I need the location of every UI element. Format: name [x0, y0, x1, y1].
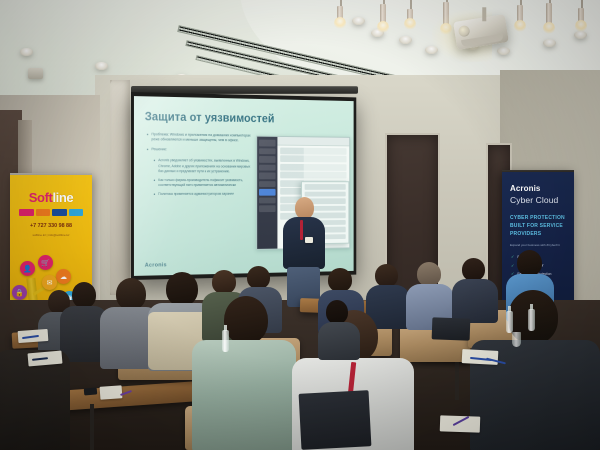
slide-footer-logo: Acronis	[145, 262, 167, 268]
downlight-icon	[425, 46, 438, 54]
water-bottle	[222, 330, 229, 352]
badge	[305, 237, 313, 243]
marble-column	[110, 80, 130, 295]
notepad	[100, 385, 123, 400]
water-bottle	[506, 311, 513, 333]
softline-phone: +7 727 330 98 88	[10, 223, 92, 229]
pendant-rod	[581, 0, 583, 8]
softline-logo: Softline	[10, 190, 92, 205]
pendant-light-icon	[546, 3, 552, 27]
laptop	[432, 317, 471, 340]
slide-bullet-text: Как только фирма-производитель пофиксит …	[158, 178, 253, 188]
projector-mount	[482, 7, 486, 21]
attendee-head	[417, 262, 441, 286]
presenter-torso	[283, 217, 325, 269]
softline-color-chips	[19, 209, 83, 216]
attendee-head	[116, 278, 146, 310]
console-sidebar-item	[259, 181, 276, 187]
attendee-head	[517, 250, 542, 276]
downlight-icon	[497, 47, 510, 55]
bullet-marker: •	[147, 132, 149, 143]
bullet-marker: •	[154, 192, 156, 199]
bullet-marker: •	[147, 147, 149, 154]
ceiling-speaker-icon	[28, 68, 43, 79]
slide-bullet: • Как только фирма-производитель пофикси…	[154, 178, 254, 188]
lock-icon: 🔒	[12, 285, 27, 300]
presenter-head	[295, 197, 314, 219]
console-sidebar	[257, 137, 277, 250]
attendee-foreground	[198, 296, 290, 450]
banner-top-rail	[10, 173, 92, 175]
slide-bullet: • Политика применяется администратором з…	[154, 192, 254, 200]
drinking-glass	[512, 332, 521, 347]
acronis-tagline: CYBER PROTECTION BUILT FOR SERVICE PROVI…	[510, 215, 570, 238]
acronis-note: Expand your business with #CyberFit	[510, 243, 570, 247]
slide-bullet-text: Решение:	[151, 147, 167, 155]
pendant-light-icon	[578, 8, 584, 25]
table-leg	[455, 360, 459, 400]
cart-icon: 🛒	[38, 255, 53, 270]
pendant-rod	[410, 0, 412, 9]
attendee-head	[375, 264, 398, 287]
table-leg	[90, 404, 94, 450]
console-table-row	[280, 147, 346, 154]
console-popup-row	[305, 184, 346, 189]
chip-magenta	[19, 209, 34, 216]
softline-logo-line: line	[52, 190, 73, 205]
attendee-head	[247, 266, 270, 289]
console-table-row	[280, 163, 346, 170]
console-popup-row	[305, 191, 346, 196]
notepad	[440, 415, 481, 432]
attendee-head	[462, 258, 485, 281]
console-sidebar-item	[259, 164, 276, 170]
downlight-icon	[399, 36, 412, 44]
lanyard	[300, 220, 303, 240]
downlight-icon	[352, 17, 365, 25]
console-sidebar-item	[259, 140, 276, 146]
downlight-icon	[95, 62, 108, 70]
attendee-head	[224, 296, 268, 344]
downlight-icon	[574, 31, 587, 39]
slide-bullet: • Решение:	[147, 147, 254, 155]
conference-room-photo: Защита от уязвимостей • Проблема: Window…	[0, 0, 600, 450]
pendant-light-icon	[443, 2, 449, 28]
downlight-icon	[543, 39, 556, 47]
attendee-torso	[192, 340, 296, 450]
console-table-row	[280, 155, 346, 162]
person-icon: 👤	[20, 261, 35, 276]
attendee-head	[326, 300, 348, 324]
chip-orange	[36, 209, 51, 216]
console-sidebar-item	[259, 172, 276, 178]
bullet-marker: •	[154, 178, 156, 188]
console-table-header	[277, 137, 349, 146]
acronis-product-name: Cyber Cloud	[510, 195, 558, 205]
laptop	[299, 390, 372, 450]
pendant-light-icon	[407, 9, 413, 23]
mail-icon: ✉	[42, 275, 57, 290]
console-table-row	[280, 172, 346, 179]
slide-bullet-text: Acronis уведомляет об уязвимостях, выявл…	[158, 159, 253, 175]
console-sidebar-item	[259, 156, 276, 162]
bullet-marker: •	[154, 159, 156, 174]
attendee	[318, 300, 364, 358]
acronis-brand-name: Acronis	[510, 184, 541, 193]
slide-bullet: • Проблема: Windows и приложения на дома…	[147, 132, 254, 144]
attendee-foreground	[0, 330, 70, 450]
console-sidebar-item	[259, 148, 276, 154]
console-sidebar-item-active	[259, 189, 276, 195]
chip-cyan	[69, 209, 84, 216]
slide-bullet-text: Политика применяется администратором зар…	[158, 192, 234, 200]
pendant-light-icon	[380, 4, 386, 26]
attendee-head	[328, 268, 352, 292]
attendee-head	[72, 282, 96, 308]
downlight-icon	[20, 48, 33, 56]
slide-bullet-list: • Проблема: Windows и приложения на дома…	[147, 132, 254, 203]
water-bottle	[528, 309, 535, 331]
console-sidebar-item	[259, 205, 276, 211]
slide-bullet: • Acronis уведомляет об уязвимостях, выя…	[154, 159, 254, 175]
projector-lens-icon	[458, 25, 471, 38]
chip-blue	[52, 209, 67, 216]
smartphone	[84, 387, 98, 395]
softline-logo-soft: Soft	[29, 190, 53, 205]
console-sidebar-item	[259, 197, 276, 203]
banner-top-rail	[502, 170, 574, 172]
pendant-light-icon	[517, 5, 523, 25]
softline-contact-subtext: softline.kz | info@softline.kz	[10, 233, 92, 237]
slide-title: Защита от уязвимостей	[145, 111, 275, 125]
attendee-head	[212, 270, 236, 294]
pendant-light-icon	[337, 6, 343, 22]
attendee-torso	[318, 322, 360, 360]
slide-bullet-text: Проблема: Windows и приложения на домашн…	[151, 132, 253, 144]
